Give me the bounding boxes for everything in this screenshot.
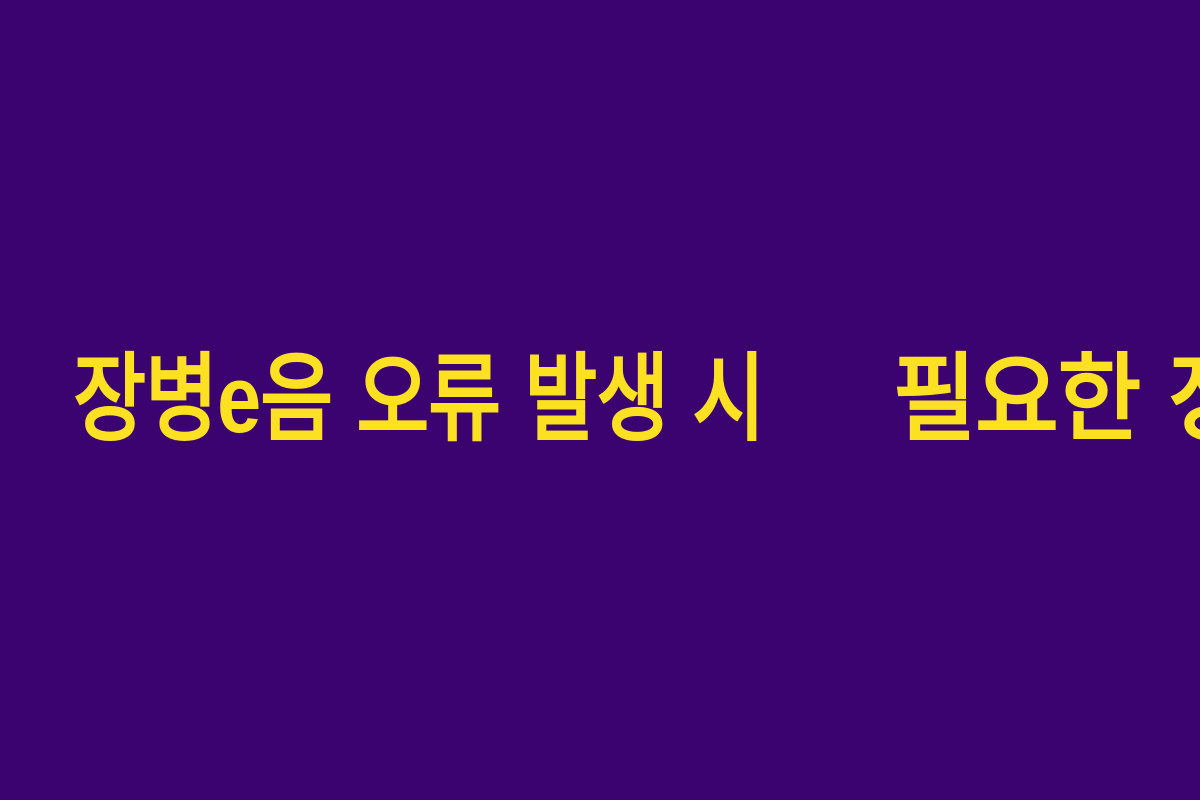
page-title: 장병e음 오류 발생 시 필요한 정보와 지원 방법 [0,349,1200,452]
headline-line-1: 장병e음 오류 발생 시 [73,349,764,452]
poster-canvas: 장병e음 오류 발생 시 필요한 정보와 지원 방법 [0,0,1200,800]
headline-line-2: 필요한 정보와 지원 방법 [893,349,1200,452]
